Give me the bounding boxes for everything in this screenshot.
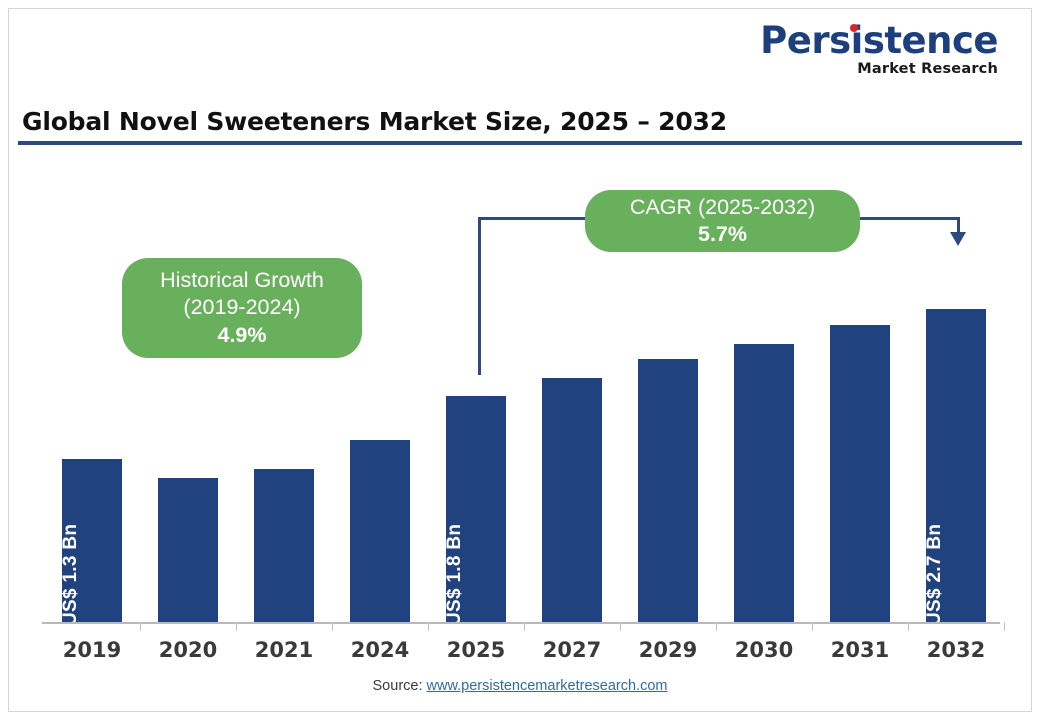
bar-value-label-2025: US$ 1.8 Bn [444, 524, 466, 626]
chart-plot-area: US$ 1.3 BnUS$ 1.8 BnUS$ 2.7 Bn 201920202… [0, 0, 1040, 720]
x-tick-2019 [140, 622, 141, 631]
source-prefix: Source: [373, 678, 427, 694]
x-tick-2024 [428, 622, 429, 631]
x-label-2032: 2032 [908, 638, 1004, 662]
cagr-line1: CAGR (2025-2032) [630, 194, 815, 221]
x-tick-2025 [524, 622, 525, 631]
source-line: Source: www.persistencemarketresearch.co… [0, 678, 1040, 694]
x-label-2020: 2020 [140, 638, 236, 662]
cagr-value: 5.7% [698, 221, 747, 248]
chart-page: Persistence Market Research Global Novel… [0, 0, 1040, 720]
historical-growth-callout: Historical Growth (2019-2024) 4.9% [122, 258, 362, 358]
bar-2030 [734, 344, 794, 622]
historical-growth-line2: (2019-2024) [183, 294, 300, 321]
x-tick-2031 [908, 622, 909, 631]
x-label-2021: 2021 [236, 638, 332, 662]
cagr-callout: CAGR (2025-2032) 5.7% [585, 190, 860, 252]
bar-2027 [542, 378, 602, 622]
x-tick-2027 [620, 622, 621, 631]
historical-growth-line1: Historical Growth [160, 267, 324, 294]
x-tick-2020 [236, 622, 237, 631]
bar-2024 [350, 440, 410, 622]
x-label-2024: 2024 [332, 638, 428, 662]
x-label-2025: 2025 [428, 638, 524, 662]
x-label-2031: 2031 [812, 638, 908, 662]
x-tick-2032 [1004, 622, 1005, 631]
x-label-2030: 2030 [716, 638, 812, 662]
x-tick-2021 [332, 622, 333, 631]
x-label-2027: 2027 [524, 638, 620, 662]
bar-2020 [158, 478, 218, 622]
cagr-connector-left [478, 217, 481, 375]
cagr-arrow-icon [950, 232, 966, 246]
x-label-2029: 2029 [620, 638, 716, 662]
x-tick-2029 [716, 622, 717, 631]
bar-value-label-2032: US$ 2.7 Bn [924, 524, 946, 626]
x-label-2019: 2019 [44, 638, 140, 662]
bar-2021 [254, 469, 314, 622]
x-axis-line [42, 622, 1000, 624]
bar-2031 [830, 325, 890, 622]
bar-2029 [638, 359, 698, 622]
x-tick-2030 [812, 622, 813, 631]
bar-value-label-2019: US$ 1.3 Bn [60, 524, 82, 626]
source-link[interactable]: www.persistencemarketresearch.com [427, 678, 668, 694]
historical-growth-value: 4.9% [217, 322, 266, 349]
